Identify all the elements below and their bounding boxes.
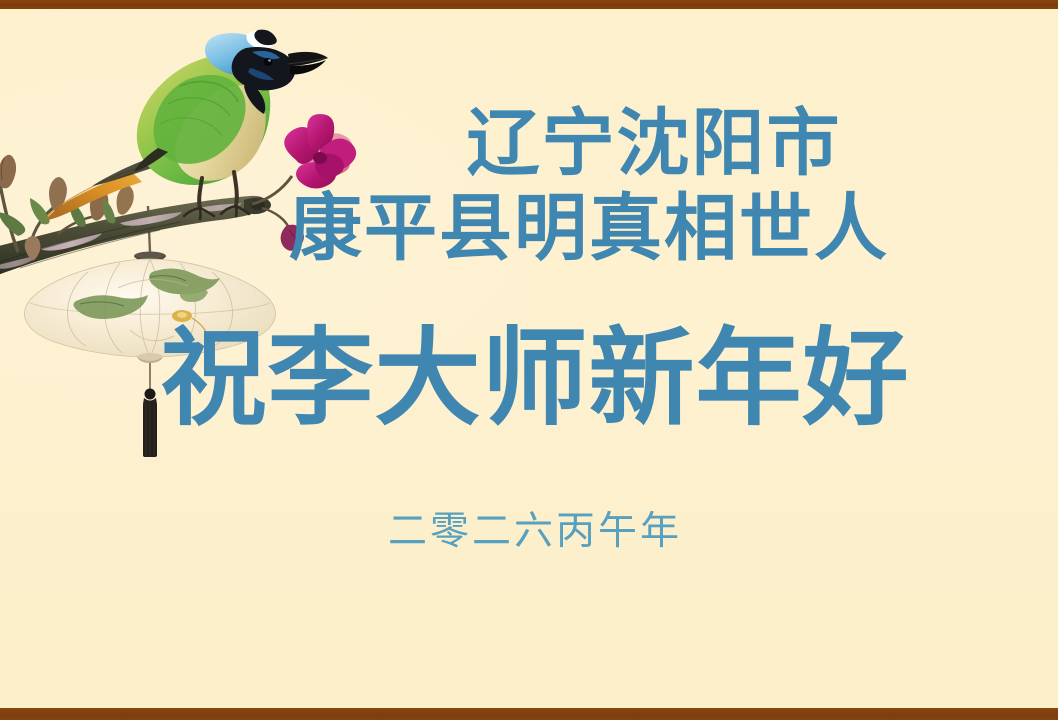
new-year-greeting-card: 辽宁沈阳市 康平县明真相世人 祝李大师新年好 二零二六丙午年 [0,0,1058,720]
top-border-bar [0,0,1058,9]
magnolia-blossom [252,114,356,251]
lantern-tassel [143,363,157,457]
silk-lantern [25,252,276,364]
green-jay-bird [46,30,328,220]
bird-lantern-artwork [0,0,460,500]
bottom-border-bar [0,708,1058,720]
